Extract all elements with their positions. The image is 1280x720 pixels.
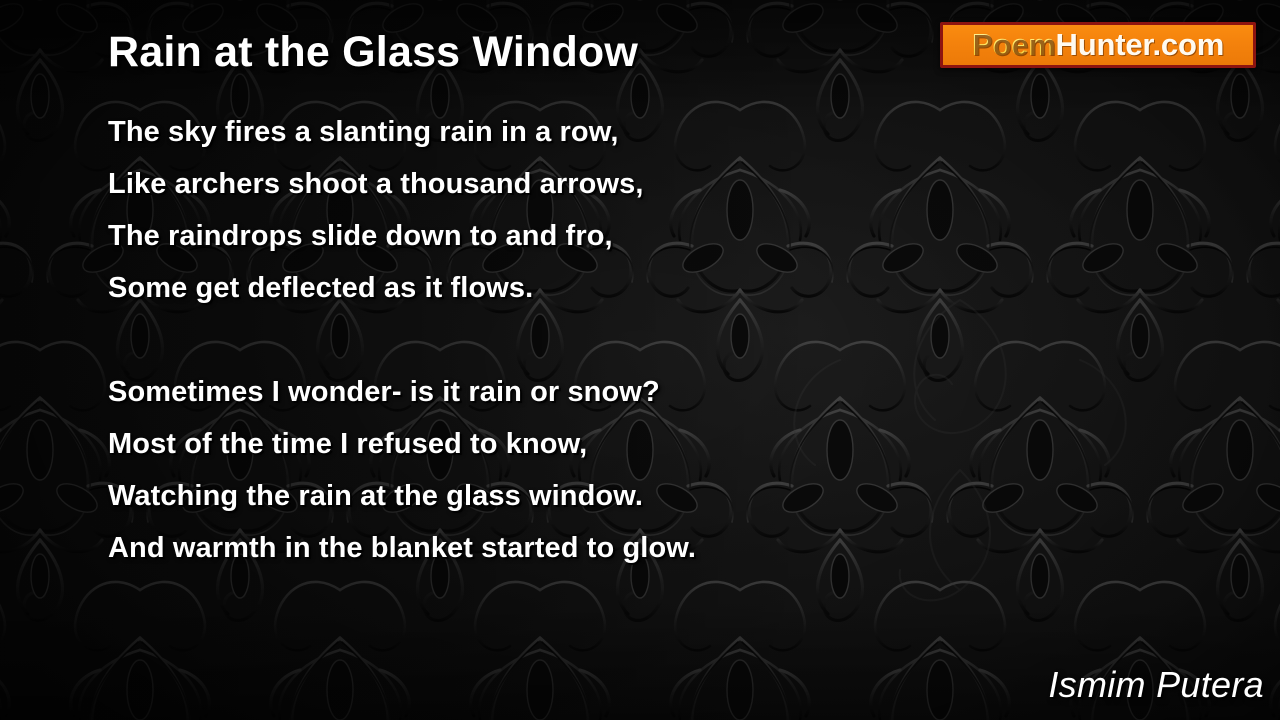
poem-body: The sky fires a slanting rain in a row, … bbox=[108, 106, 868, 574]
poem-line: Watching the rain at the glass window. bbox=[108, 470, 868, 522]
page-title: Rain at the Glass Window bbox=[108, 28, 638, 77]
poem-line: Like archers shoot a thousand arrows, bbox=[108, 158, 868, 210]
poem-line: Sometimes I wonder- is it rain or snow? bbox=[108, 366, 868, 418]
poem-poster: Rain at the Glass Window PoemHunter.com … bbox=[0, 0, 1280, 720]
logo-text-hunter: Hunter.com bbox=[1056, 27, 1225, 62]
poemhunter-logo-text: PoemHunter.com bbox=[972, 29, 1224, 60]
poem-line: Some get deflected as it flows. bbox=[108, 262, 868, 314]
poemhunter-logo[interactable]: PoemHunter.com bbox=[940, 22, 1256, 68]
poem-line: Most of the time I refused to know, bbox=[108, 418, 868, 470]
poem-stanza: The sky fires a slanting rain in a row, … bbox=[108, 106, 868, 314]
logo-text-poem: Poem bbox=[972, 27, 1056, 62]
author-name: Ismim Putera bbox=[1048, 664, 1264, 706]
poem-line: The sky fires a slanting rain in a row, bbox=[108, 106, 868, 158]
poem-stanza: Sometimes I wonder- is it rain or snow? … bbox=[108, 366, 868, 574]
poem-line: And warmth in the blanket started to glo… bbox=[108, 522, 868, 574]
poem-line: The raindrops slide down to and fro, bbox=[108, 210, 868, 262]
